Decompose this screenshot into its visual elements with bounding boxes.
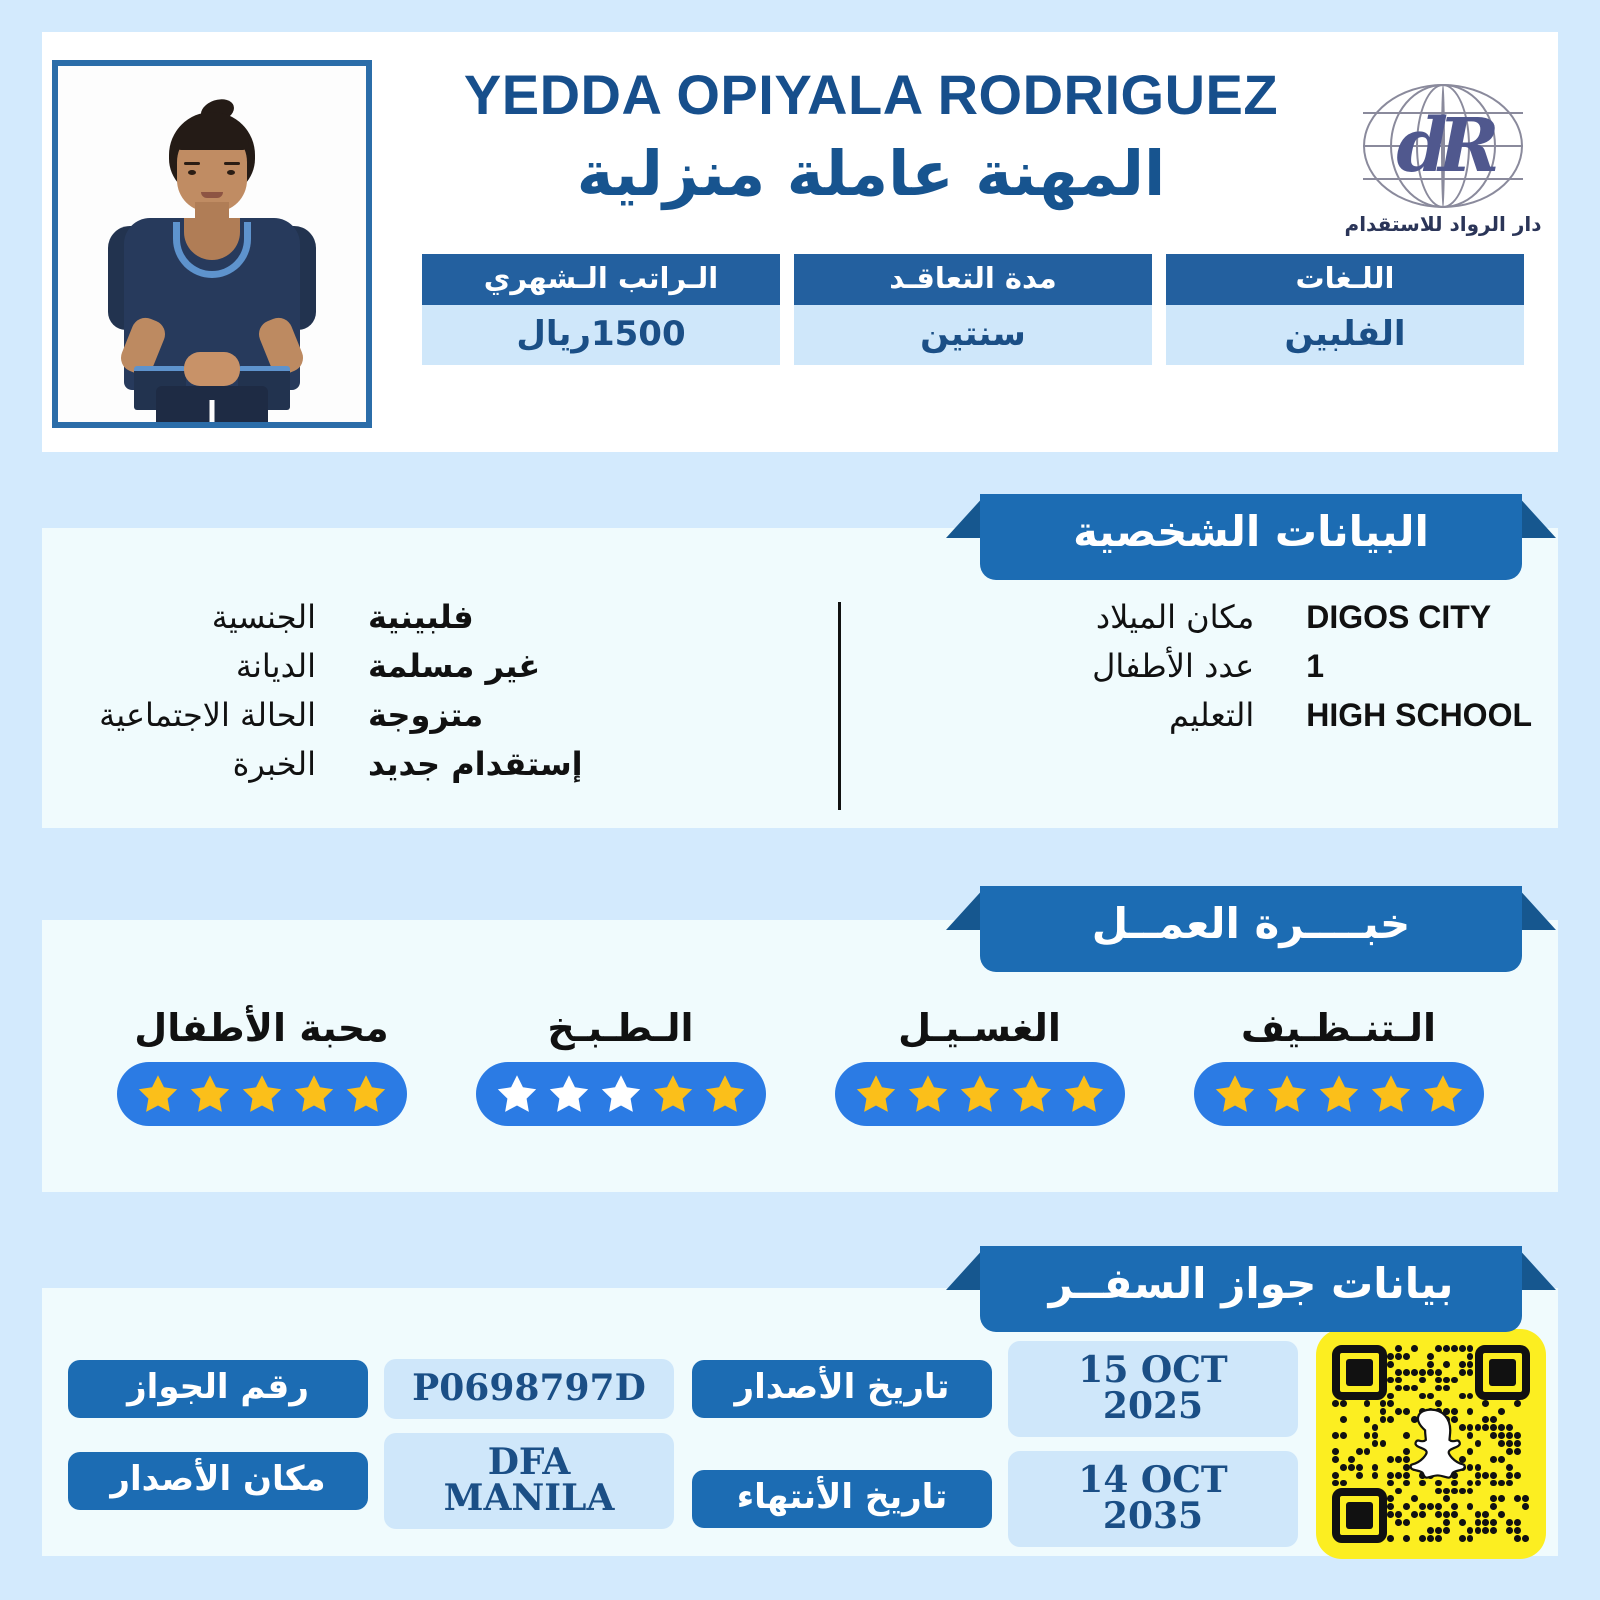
value-experience: إستقدام جديد	[368, 743, 583, 786]
label-issue-place: مكان الأصدار	[68, 1452, 368, 1510]
work-experience-banner-label: خبــــرة العمــل	[946, 886, 1556, 972]
summary-col-languages: اللـغات الفلبين	[1166, 254, 1524, 365]
value-religion: غير مسلمة	[368, 645, 583, 688]
passport-row: تاريخ الأنتهاء 14 OCT 2035	[692, 1451, 1298, 1547]
skill-rating	[476, 1062, 766, 1126]
skill-label: الغسـيـل	[815, 1006, 1145, 1050]
skill-label: محبة الأطفال	[97, 1006, 427, 1050]
snapchat-qr-code[interactable]	[1316, 1329, 1546, 1559]
passport-banner-label: بيانات جواز السفــر	[946, 1246, 1556, 1332]
label-nationality: الجنسية	[68, 596, 316, 639]
value-education: HIGH SCHOOL	[1306, 694, 1532, 737]
passport-row: تاريخ الأصدار 15 OCT 2025	[692, 1341, 1298, 1437]
skill-item: محبة الأطفال	[97, 1006, 427, 1126]
summary-col-salary: الـراتب الـشهري 1500ريال	[422, 254, 780, 365]
star-filled-icon	[343, 1071, 389, 1117]
star-filled-icon	[1212, 1071, 1258, 1117]
personal-values-left: DIGOS CITY 1 HIGH SCHOOL	[1280, 596, 1558, 828]
value-birth-place: DIGOS CITY	[1306, 596, 1532, 639]
skill-item: الـتنـظـيف	[1174, 1006, 1504, 1126]
globe-icon: dR	[1363, 84, 1523, 208]
star-filled-icon	[1368, 1071, 1414, 1117]
applicant-profession: المهنة عاملة منزلية	[404, 135, 1338, 213]
value-expiry-date: 14 OCT 2035	[1008, 1451, 1298, 1547]
summary-label: اللـغات	[1166, 254, 1524, 305]
skill-item: الـطـبـخ	[456, 1006, 786, 1126]
passport-row: مكان الأصدار DFA MANILA	[68, 1433, 674, 1529]
value-marital-status: متزوجة	[368, 694, 583, 737]
personal-column-right: الجنسية الديانة الحالة الاجتماعية الخبرة…	[42, 596, 838, 828]
star-filled-icon	[1009, 1071, 1055, 1117]
logo-monogram: dR	[1363, 84, 1523, 208]
cv-card-page: YEDDA OPIYALA RODRIGUEZ المهنة عاملة منز…	[0, 0, 1600, 1600]
passport-banner: بيانات جواز السفــر	[946, 1246, 1556, 1332]
label-passport-number: رقم الجواز	[68, 1360, 368, 1418]
skill-item: الغسـيـل	[815, 1006, 1145, 1126]
value-issue-place: DFA MANILA	[384, 1433, 674, 1529]
column-divider	[838, 602, 841, 810]
company-logo: dR دار الرواد للاستقدام	[1338, 50, 1548, 236]
star-empty-icon	[598, 1071, 644, 1117]
skill-rating	[1194, 1062, 1484, 1126]
star-filled-icon	[1264, 1071, 1310, 1117]
summary-value: الفلبين	[1166, 305, 1524, 365]
star-filled-icon	[291, 1071, 337, 1117]
label-birth-place: مكان الميلاد	[1086, 596, 1254, 639]
personal-labels-right: الجنسية الديانة الحالة الاجتماعية الخبرة	[42, 596, 342, 828]
summary-table: الـراتب الـشهري 1500ريال مدة التعاقـد سن…	[404, 254, 1548, 365]
skill-rating	[117, 1062, 407, 1126]
passport-fields-right: رقم الجواز P0698797D مكان الأصدار DFA MA…	[68, 1359, 674, 1529]
value-issue-date: 15 OCT 2025	[1008, 1341, 1298, 1437]
star-filled-icon	[1420, 1071, 1466, 1117]
star-empty-icon	[546, 1071, 592, 1117]
personal-column-left: مكان الميلاد عدد الأطفال التعليم DIGOS C…	[841, 596, 1559, 828]
personal-data-banner-label: البيانات الشخصية	[946, 494, 1556, 580]
personal-values-right: فلبينية غير مسلمة متزوجة إستقدام جديد	[342, 596, 609, 828]
passport-row: رقم الجواز P0698797D	[68, 1359, 674, 1419]
value-children-count: 1	[1306, 645, 1532, 688]
header-main: YEDDA OPIYALA RODRIGUEZ المهنة عاملة منز…	[382, 32, 1558, 452]
star-filled-icon	[905, 1071, 951, 1117]
summary-value: 1500ريال	[422, 305, 780, 365]
logo-caption: دار الرواد للاستقدام	[1345, 212, 1542, 236]
snapchat-ghost-icon	[1394, 1405, 1468, 1483]
label-religion: الديانة	[68, 645, 316, 688]
star-filled-icon	[1061, 1071, 1107, 1117]
value-nationality: فلبينية	[368, 596, 583, 639]
applicant-photo	[52, 60, 372, 428]
work-experience-banner: خبــــرة العمــل	[946, 886, 1556, 972]
value-passport-number: P0698797D	[384, 1359, 674, 1419]
skill-rating	[835, 1062, 1125, 1126]
star-filled-icon	[1316, 1071, 1362, 1117]
photo-container	[42, 32, 382, 452]
header-titles: YEDDA OPIYALA RODRIGUEZ المهنة عاملة منز…	[404, 50, 1338, 212]
summary-label: الـراتب الـشهري	[422, 254, 780, 305]
label-experience: الخبرة	[68, 743, 316, 786]
label-issue-date: تاريخ الأصدار	[692, 1360, 992, 1418]
star-filled-icon	[650, 1071, 696, 1117]
passport-fields-left: تاريخ الأصدار 15 OCT 2025 تاريخ الأنتهاء…	[692, 1341, 1298, 1547]
skill-label: الـطـبـخ	[456, 1006, 786, 1050]
summary-col-contract: مدة التعاقـد سنتين	[794, 254, 1152, 365]
label-expiry-date: تاريخ الأنتهاء	[692, 1470, 992, 1528]
label-children-count: عدد الأطفال	[1086, 645, 1254, 688]
star-empty-icon	[494, 1071, 540, 1117]
label-marital-status: الحالة الاجتماعية	[68, 694, 316, 737]
applicant-name: YEDDA OPIYALA RODRIGUEZ	[404, 66, 1338, 125]
summary-value: سنتين	[794, 305, 1152, 365]
summary-label: مدة التعاقـد	[794, 254, 1152, 305]
star-filled-icon	[853, 1071, 899, 1117]
star-filled-icon	[702, 1071, 748, 1117]
header-card: YEDDA OPIYALA RODRIGUEZ المهنة عاملة منز…	[42, 32, 1558, 452]
star-filled-icon	[239, 1071, 285, 1117]
star-filled-icon	[957, 1071, 1003, 1117]
personal-data-banner: البيانات الشخصية	[946, 494, 1556, 580]
personal-labels-left: مكان الميلاد عدد الأطفال التعليم	[1060, 596, 1280, 828]
skill-label: الـتنـظـيف	[1174, 1006, 1504, 1050]
star-filled-icon	[187, 1071, 233, 1117]
star-filled-icon	[135, 1071, 181, 1117]
label-education: التعليم	[1086, 694, 1254, 737]
